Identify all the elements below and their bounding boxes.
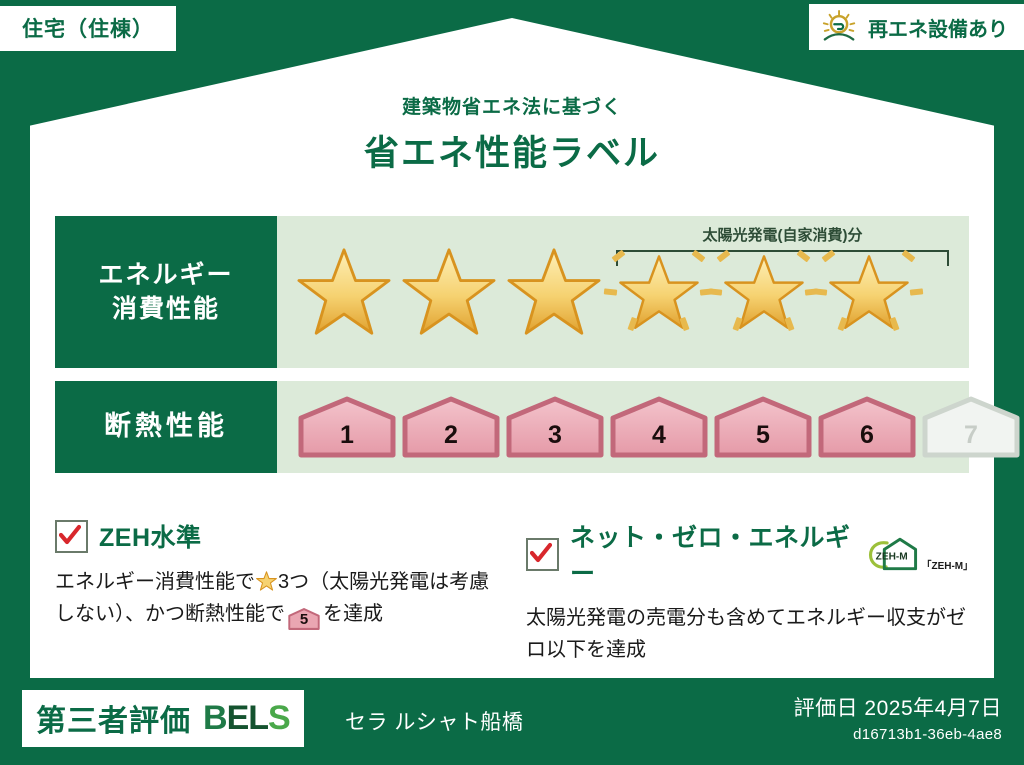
star-icon — [291, 237, 396, 347]
badge-renewable-equipment: 再エネ設備あり — [809, 4, 1024, 50]
star-icon — [501, 237, 606, 347]
star-icon — [396, 237, 501, 347]
grade-badge-value: 7 — [964, 421, 978, 458]
criterion-zeh-body: エネルギー消費性能で3つ（太陽光発電は考慮しない）、かつ断熱性能で5を達成 — [55, 566, 498, 631]
checkmark-icon — [55, 520, 88, 553]
grade-badge-5: 5 — [713, 396, 813, 458]
grade-badge-7: 7 — [921, 396, 1021, 458]
checkmark-icon — [526, 538, 559, 571]
inline-grade-value: 5 — [288, 608, 320, 632]
badge-dwelling-type: 住宅（住棟） — [0, 6, 176, 51]
insulation-row-body: 1 2 3 4 — [277, 381, 969, 473]
insulation-label: 断熱性能 — [104, 408, 228, 445]
grade-badge-value: 5 — [756, 421, 770, 458]
criterion-zeh: ZEH水準 エネルギー消費性能で3つ（太陽光発電は考慮しない）、かつ断熱性能で5… — [55, 518, 498, 667]
insulation-grade-scale: 1 2 3 4 — [277, 381, 969, 473]
energy-star-rating — [277, 216, 969, 368]
star-dash — [604, 288, 618, 295]
evaluation-date: 評価日 2025年4月7日 — [794, 692, 1002, 722]
row-insulation-performance: 断熱性能 1 2 — [55, 381, 969, 473]
criteria-section: ZEH水準 エネルギー消費性能で3つ（太陽光発電は考慮しない）、かつ断熱性能で5… — [55, 518, 969, 667]
zeh-m-logo: ZEH-M 「ZEH-M」 — [865, 534, 969, 574]
svg-text:ZEH-M: ZEH-M — [876, 552, 908, 563]
grade-badge-value: 1 — [340, 421, 354, 458]
grade-badge-1: 1 — [297, 396, 397, 458]
energy-row-label: エネルギー 消費性能 — [55, 216, 277, 368]
row-energy-performance: エネルギー 消費性能 太陽光発電(自家消費)分 — [55, 216, 969, 368]
star-dash — [709, 288, 723, 295]
grade-badge-value: 6 — [860, 421, 874, 458]
title-subtitle: 建築物省エネ法に基づく — [0, 92, 1024, 119]
solar-sun-icon — [821, 10, 859, 44]
star-icon-solar — [816, 237, 921, 347]
star-dash — [814, 288, 828, 295]
criterion-zeh-header: ZEH水準 — [55, 518, 498, 554]
evaluation-id: d16713b1-36eb-4ae8 — [794, 726, 1002, 743]
grade-badge-4: 4 — [609, 396, 709, 458]
criterion-zeh-text-pre: エネルギー消費性能で — [55, 571, 255, 593]
criterion-zeh-title: ZEH水準 — [99, 518, 202, 554]
badge-renewable-label: 再エネ設備あり — [868, 13, 1008, 42]
evaluation-info: 評価日 2025年4月7日 d16713b1-36eb-4ae8 — [794, 692, 1002, 743]
inline-grade-badge: 5 — [288, 608, 320, 630]
star-dash — [910, 288, 924, 295]
criterion-nzeb-header: ネット・ゼロ・エネルギー ZEH-M 「ZEH-M」 — [526, 518, 969, 590]
grade-badge-value: 3 — [548, 421, 562, 458]
star-icon-solar — [711, 237, 816, 347]
grade-badge-2: 2 — [401, 396, 501, 458]
footer: 第三者評価 BELS セラ ルシャト船橋 評価日 2025年4月7日 d1671… — [0, 678, 1024, 765]
bels-logo-box: 第三者評価 BELS — [22, 690, 304, 747]
grade-badge-6: 6 — [817, 396, 917, 458]
energy-row-body: 太陽光発電(自家消費)分 — [277, 216, 969, 368]
criterion-nzeb-title: ネット・ゼロ・エネルギー — [570, 518, 852, 590]
title-main: 省エネ性能ラベル — [0, 125, 1024, 176]
zeh-m-caption: 「ZEH-M」 — [921, 557, 969, 574]
energy-label-line2: 消費性能 — [112, 292, 220, 327]
criterion-nzeb-body: 太陽光発電の売電分も含めてエネルギー収支がゼロ以下を達成 — [526, 602, 969, 667]
grade-badge-value: 2 — [444, 421, 458, 458]
grade-badge-value: 4 — [652, 421, 666, 458]
criterion-zeh-text-post: を達成 — [323, 603, 383, 625]
third-party-label: 第三者評価 — [36, 696, 191, 740]
criterion-nzeb: ネット・ゼロ・エネルギー ZEH-M 「ZEH-M」 太陽光発電の売電分も含めて… — [526, 518, 969, 667]
star-icon — [256, 569, 277, 589]
building-name: セラ ルシャト船橋 — [345, 706, 523, 736]
page-title: 建築物省エネ法に基づく 省エネ性能ラベル — [0, 92, 1024, 176]
energy-label-line1: エネルギー — [98, 258, 233, 293]
grade-badge-3: 3 — [505, 396, 605, 458]
bels-wordmark: BELS — [203, 699, 290, 738]
insulation-row-label: 断熱性能 — [55, 381, 277, 473]
star-icon-solar — [606, 237, 711, 347]
badge-dwelling-label: 住宅（住棟） — [22, 18, 154, 41]
